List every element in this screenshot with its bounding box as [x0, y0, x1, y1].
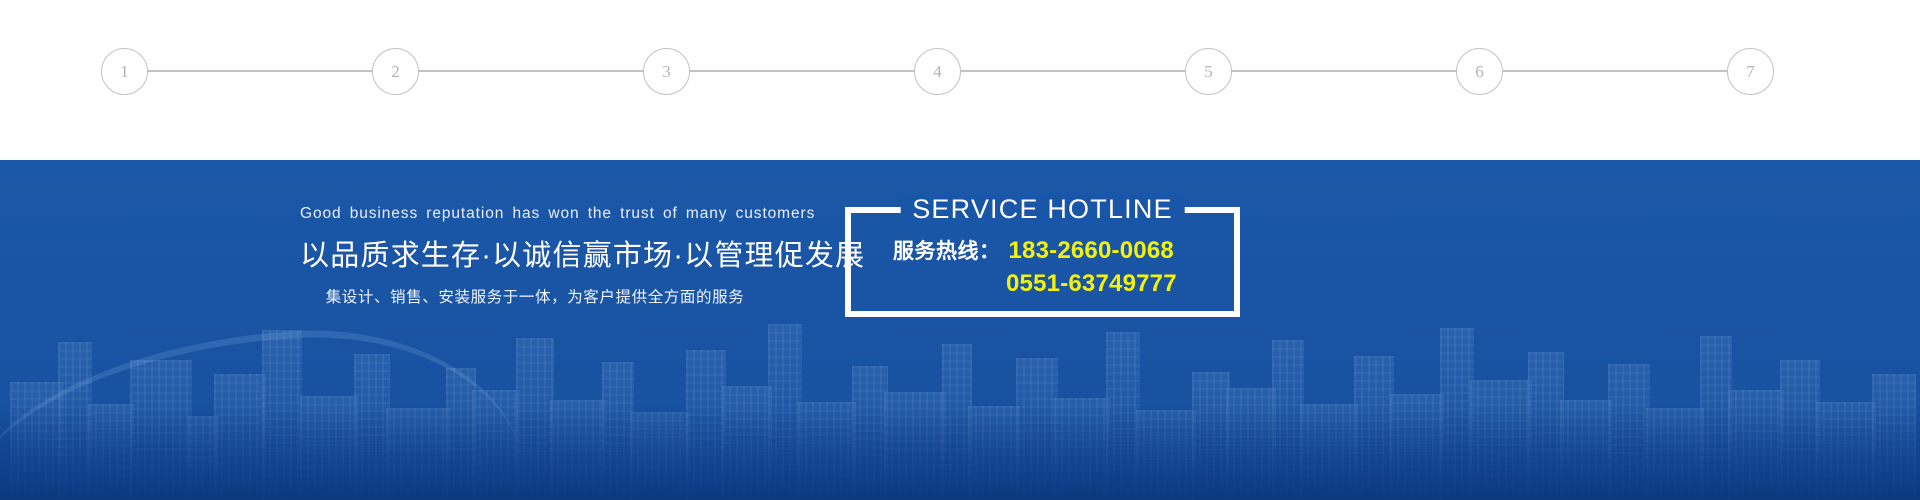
step-connector-4-5	[960, 70, 1186, 72]
hotline-number-secondary[interactable]: 0551-63749777	[1006, 268, 1177, 300]
slogan-chinese-sub: 集设计、销售、安装服务于一体，为客户提供全方面的服务	[300, 285, 770, 307]
slogan-english: Good business reputation has won the tru…	[300, 205, 770, 223]
step-connector-5-6	[1231, 70, 1457, 72]
slogan-block: Good business reputation has won the tru…	[300, 205, 770, 307]
step-label: 1	[120, 62, 129, 81]
step-node-7[interactable]: 7	[1727, 48, 1774, 95]
hotline-row-primary: 服务热线： 183-2660-0068	[851, 235, 1234, 268]
stepper-strip: 1 2 3 4 5 6 7	[0, 0, 1920, 160]
step-label: 7	[1746, 62, 1755, 81]
step-node-2[interactable]: 2	[372, 48, 419, 95]
step-connector-1-2	[147, 70, 373, 72]
step-node-4[interactable]: 4	[914, 48, 961, 95]
slogan-chinese-main: 以品质求生存·以诚信赢市场·以管理促发展	[300, 232, 770, 274]
step-label: 2	[391, 62, 400, 81]
step-connector-6-7	[1502, 70, 1728, 72]
step-label: 5	[1204, 62, 1213, 81]
page-root: 1 2 3 4 5 6 7	[0, 0, 1920, 500]
step-node-3[interactable]: 3	[643, 48, 690, 95]
step-label: 4	[933, 62, 942, 81]
step-connector-3-4	[689, 70, 915, 72]
step-connector-2-3	[418, 70, 644, 72]
hotline-row-secondary: 0551-63749777	[851, 268, 1234, 300]
service-hotline-box: SERVICE HOTLINE 服务热线： 183-2660-0068 0551…	[845, 207, 1240, 317]
hotline-number-primary[interactable]: 183-2660-0068	[1009, 235, 1174, 267]
service-hotline-title: SERVICE HOTLINE	[900, 194, 1185, 224]
hotline-rows: 服务热线： 183-2660-0068 0551-63749777	[851, 235, 1234, 300]
step-node-1[interactable]: 1	[101, 48, 148, 95]
step-label: 6	[1475, 62, 1484, 81]
step-node-5[interactable]: 5	[1185, 48, 1232, 95]
pagination-stepper: 1 2 3 4 5 6 7	[101, 47, 1774, 95]
promo-banner: Good business reputation has won the tru…	[0, 160, 1920, 500]
step-label: 3	[662, 62, 671, 81]
hotline-label: 服务热线：	[893, 236, 1001, 268]
step-node-6[interactable]: 6	[1456, 48, 1503, 95]
